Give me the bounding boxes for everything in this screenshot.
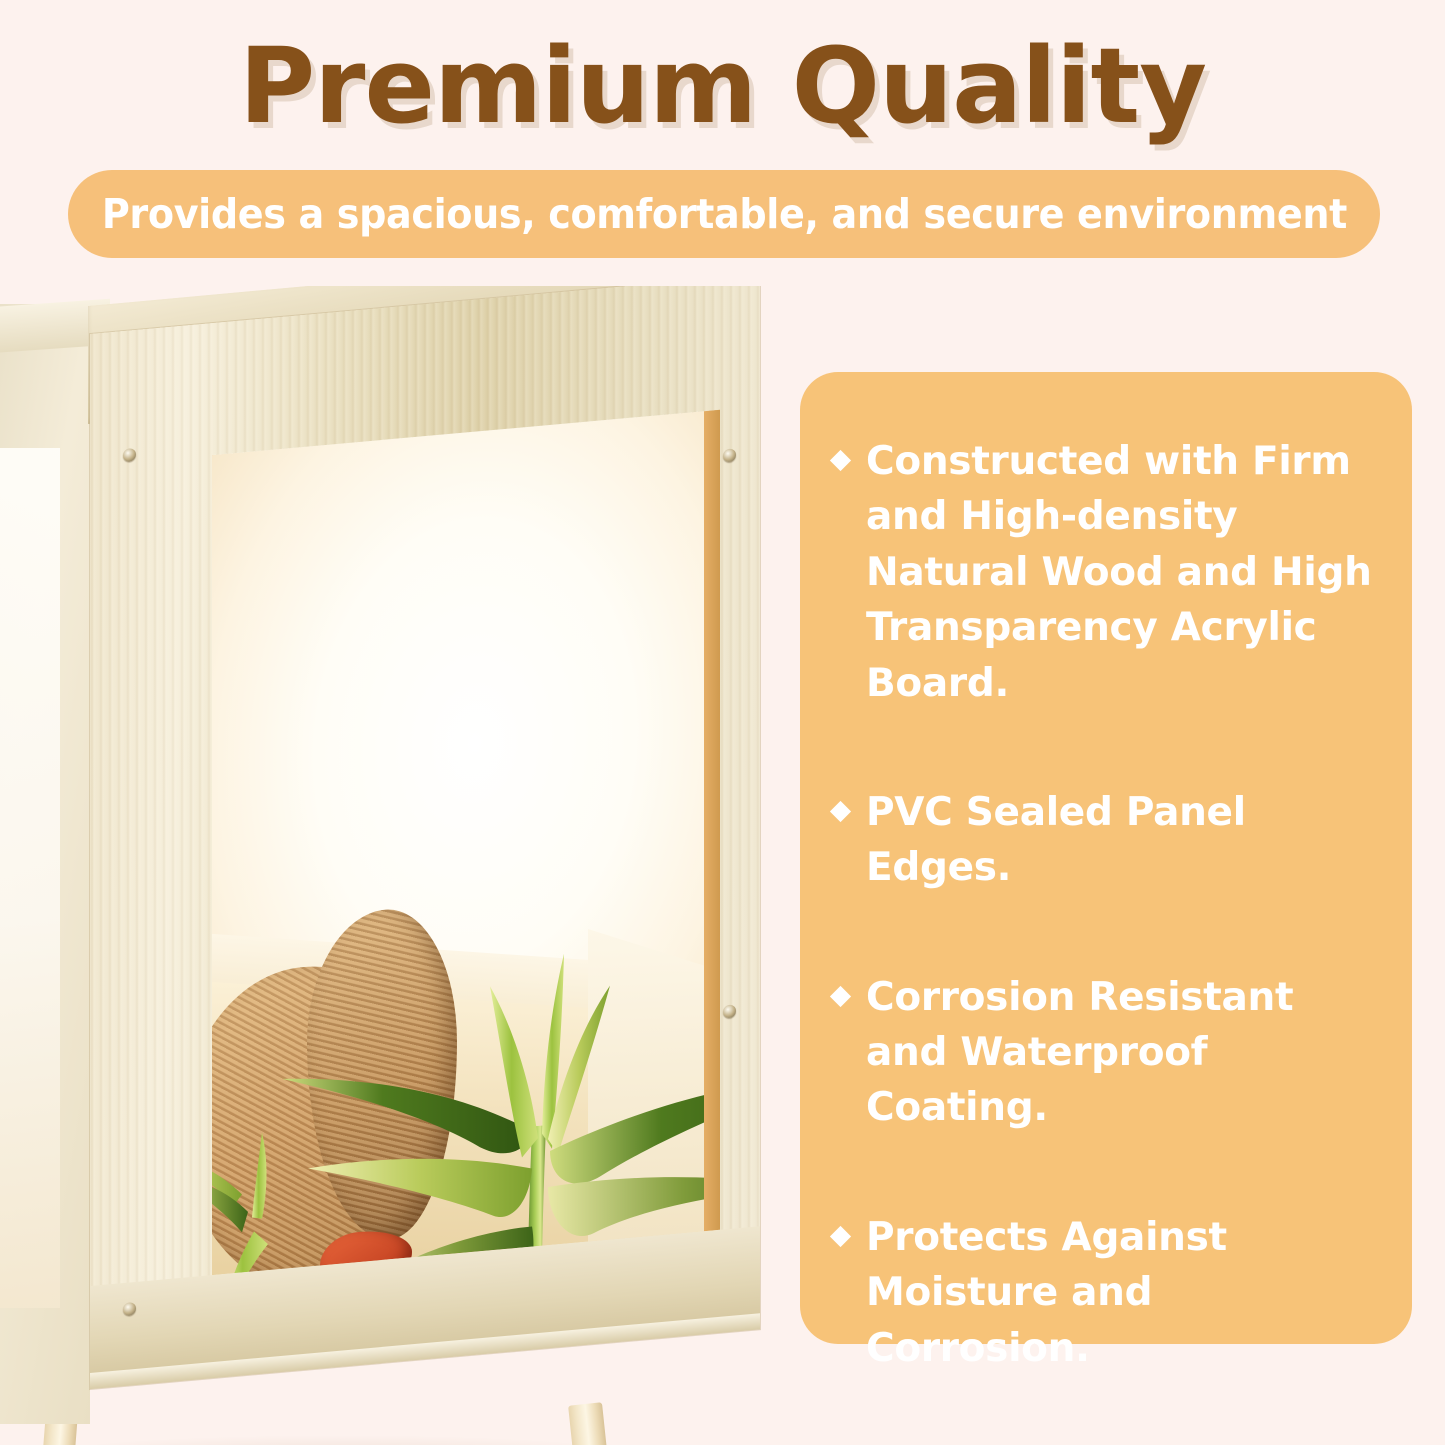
diamond-bullet-icon [830,986,851,1007]
feature-bullet-list: Constructed with Firm and High-density N… [833,434,1372,1376]
diamond-bullet-icon [830,1226,851,1247]
list-item: Constructed with Firm and High-density N… [833,434,1372,711]
feature-panel: Constructed with Firm and High-density N… [800,372,1412,1344]
product-image [0,286,800,1445]
screw-icon [723,1004,736,1018]
plant-leaves-icon [212,410,718,1275]
feature-bullet-text: PVC Sealed Panel Edges. [866,785,1372,896]
feature-bullet-text: Constructed with Firm and High-density N… [866,434,1372,711]
enclosure-front-frame [90,286,760,1389]
page-title: Premium Quality [0,28,1445,144]
diamond-bullet-icon [830,801,851,822]
screw-icon [723,448,736,462]
window-inner-cut-edge [704,410,720,1231]
subtitle-banner: Provides a spacious, comfortable, and se… [68,170,1380,258]
terrarium-interior [212,410,718,1275]
subtitle-text: Provides a spacious, comfortable, and se… [101,190,1346,238]
artificial-plant [212,410,718,1275]
diamond-bullet-icon [830,450,851,471]
feature-bullet-text: Protects Against Moisture and Corrosion. [866,1210,1372,1376]
list-item: Corrosion Resistant and Waterproof Coati… [833,970,1372,1136]
list-item: Protects Against Moisture and Corrosion. [833,1210,1372,1376]
ground-shadow [40,1435,640,1445]
enclosure-side-acrylic [0,448,60,1308]
feature-bullet-text: Corrosion Resistant and Waterproof Coati… [866,970,1372,1136]
enclosure-bottom-edge [90,1313,760,1389]
list-item: PVC Sealed Panel Edges. [833,785,1372,896]
acrylic-viewing-window [212,410,718,1275]
screw-icon [123,448,136,462]
